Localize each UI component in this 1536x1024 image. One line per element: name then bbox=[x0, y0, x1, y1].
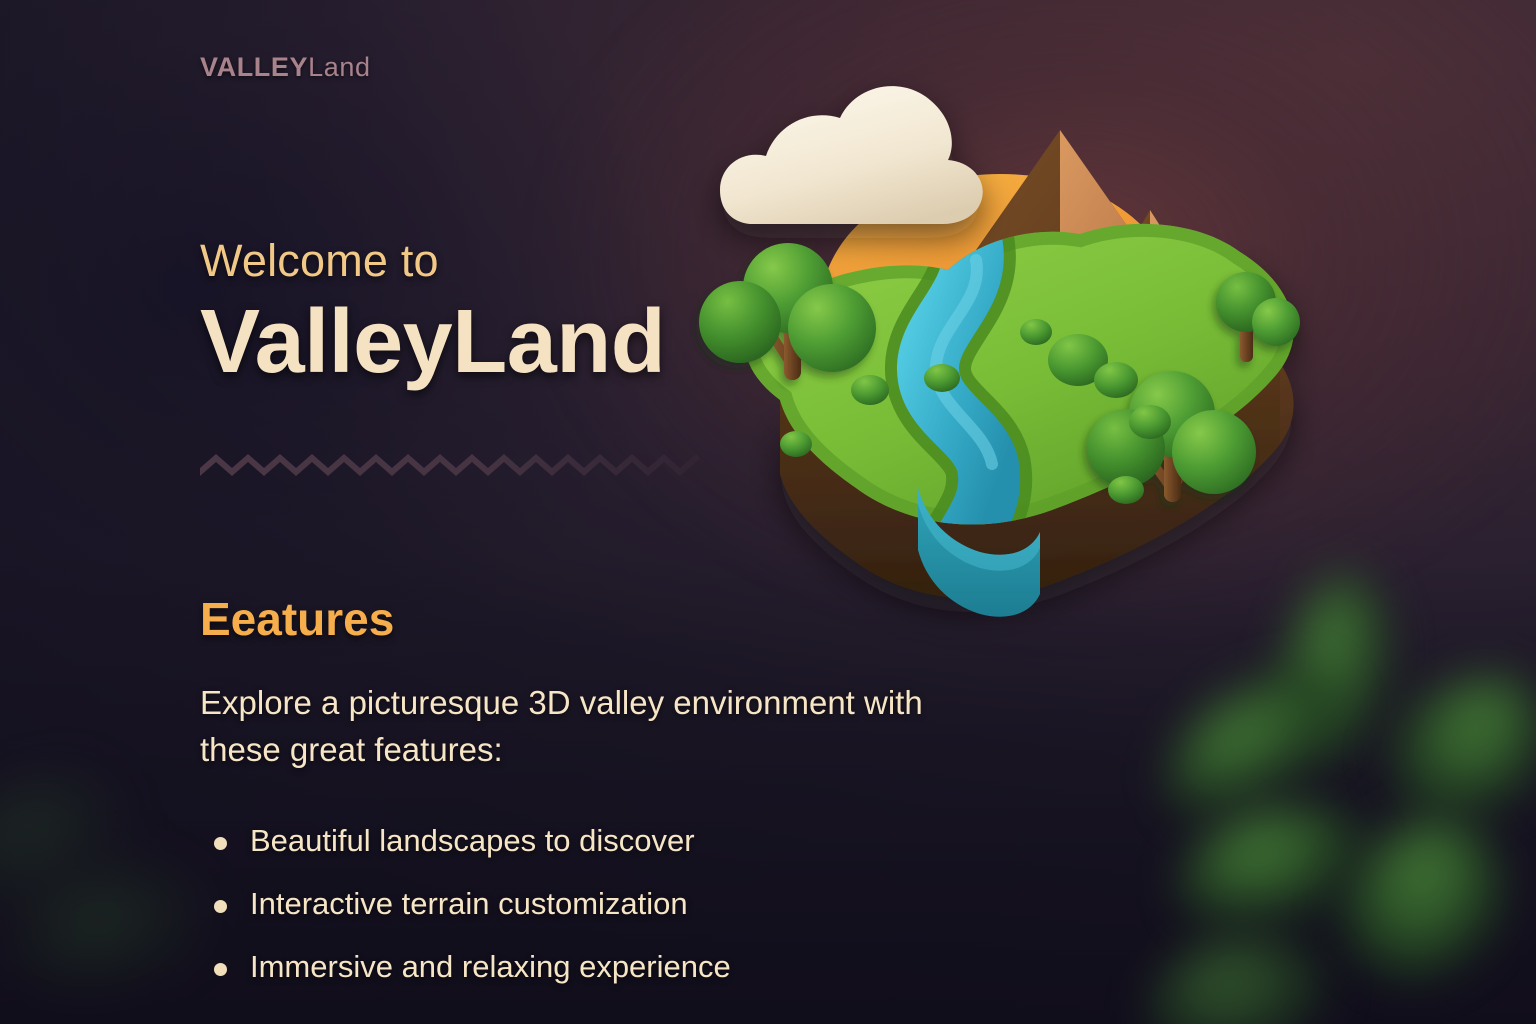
welcome-screen: VALLEYLand Welcome to ValleyLand bbox=[0, 0, 1536, 1024]
cloud bbox=[720, 86, 983, 224]
list-item: Interactive terrain customization bbox=[200, 885, 1000, 923]
logo-strong-text: VALLEY bbox=[200, 52, 308, 82]
list-item: Immersive and relaxing experience bbox=[200, 948, 1000, 986]
list-item-label: Beautiful landscapes to discover bbox=[250, 823, 695, 858]
feature-list: Beautiful landscapes to discover Interac… bbox=[200, 822, 1000, 985]
list-item-label: Interactive terrain customization bbox=[250, 886, 688, 921]
valley-island-illustration bbox=[680, 70, 1360, 670]
brand-logo[interactable]: VALLEYLand bbox=[200, 52, 371, 83]
logo-light-text: Land bbox=[308, 52, 370, 82]
list-item-label: Immersive and relaxing experience bbox=[250, 949, 731, 984]
list-item: Beautiful landscapes to discover bbox=[200, 822, 1000, 860]
bullet-dot-icon bbox=[214, 963, 227, 976]
bullet-dot-icon bbox=[214, 900, 227, 913]
features-intro-text: Explore a picturesque 3D valley environm… bbox=[200, 680, 940, 774]
zigzag-divider bbox=[200, 446, 700, 484]
bullet-dot-icon bbox=[214, 837, 227, 850]
